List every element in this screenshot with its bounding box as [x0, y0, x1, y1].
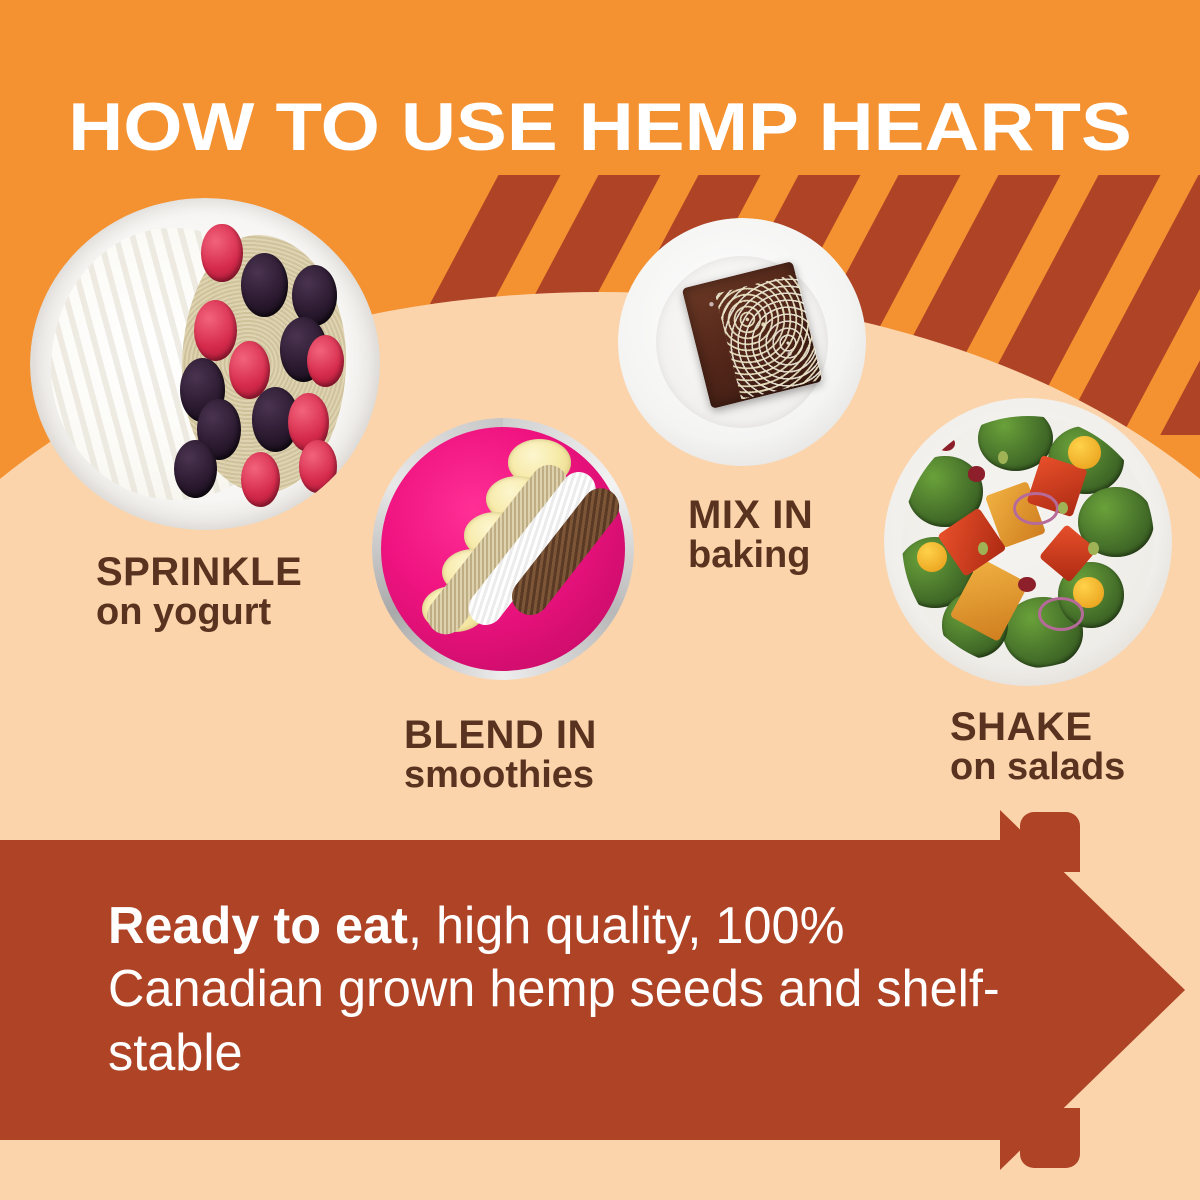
- berry-topping-group: [170, 218, 366, 510]
- banner-tagline: Ready to eat, high quality, 100% Canadia…: [108, 895, 1020, 1085]
- caption-mix-context: baking: [688, 536, 813, 575]
- caption-mix: MIX IN baking: [688, 495, 813, 575]
- caption-blend: BLEND IN smoothies: [404, 715, 597, 795]
- smoothie-bowl-photo: [372, 418, 634, 680]
- caption-mix-action: MIX IN: [688, 495, 813, 536]
- caption-sprinkle-action: SPRINKLE: [96, 552, 302, 593]
- caption-shake-context: on salads: [950, 748, 1125, 787]
- kale-salad-bowl-photo: [884, 398, 1172, 686]
- pink-smoothie-surface: [381, 427, 625, 671]
- caption-shake-action: SHAKE: [950, 707, 1125, 748]
- infographic-canvas: HOW TO USE HEMP HEARTS: [0, 0, 1200, 1200]
- caption-blend-context: smoothies: [404, 756, 597, 795]
- arrow-head-icon: [1000, 810, 1185, 1170]
- caption-shake: SHAKE on salads: [950, 707, 1125, 787]
- brownie-plate-photo: [618, 218, 866, 466]
- page-title: HOW TO USE HEMP HEARTS: [0, 88, 1200, 166]
- caption-sprinkle-context: on yogurt: [96, 593, 302, 632]
- salad-contents: [902, 416, 1154, 668]
- banner-bold-lead: Ready to eat: [108, 897, 408, 955]
- yogurt-bowl-photo: [30, 198, 380, 530]
- caption-blend-action: BLEND IN: [404, 715, 597, 756]
- caption-sprinkle: SPRINKLE on yogurt: [96, 552, 302, 632]
